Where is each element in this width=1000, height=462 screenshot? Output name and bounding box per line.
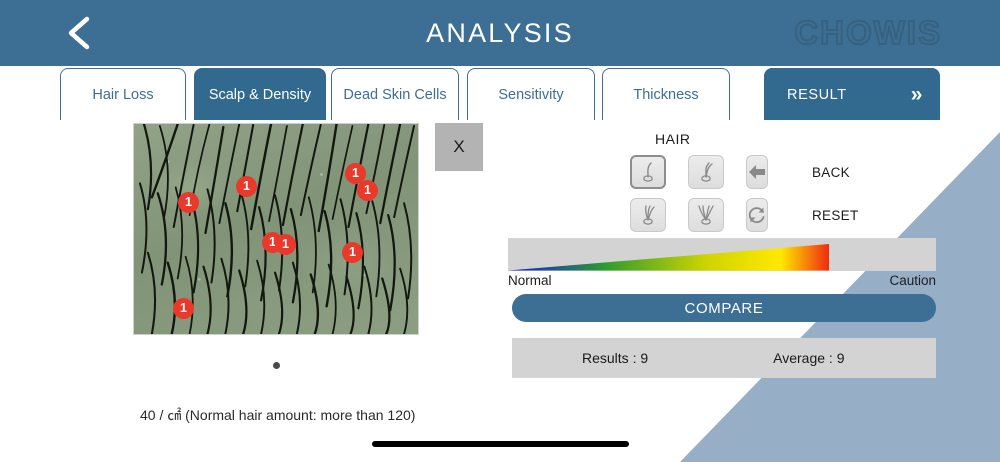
hair-1-button[interactable] xyxy=(630,155,666,189)
hair-2-cell xyxy=(688,155,738,189)
back-label: BACK xyxy=(812,155,850,189)
page-indicator-dot[interactable] xyxy=(273,362,280,369)
tab-thickness[interactable]: Thickness xyxy=(602,68,730,120)
tab-result[interactable]: RESULT » xyxy=(764,68,940,120)
back-cell: BACK xyxy=(746,155,796,189)
hair-4-cell xyxy=(688,198,738,232)
app-header: ANALYSIS CHOWIS xyxy=(0,0,1000,66)
reset-label: RESET xyxy=(812,198,859,232)
severity-gauge xyxy=(508,238,936,271)
brand-logo: CHOWIS xyxy=(794,14,942,52)
hair-marker[interactable]: 1 xyxy=(342,242,363,263)
hair-4-button[interactable] xyxy=(688,198,724,232)
tab-label: Thickness xyxy=(633,87,698,103)
tab-label: Scalp & Density xyxy=(209,87,311,103)
close-image-button[interactable]: X xyxy=(435,123,483,171)
results-bar: Results : 9 Average : 9 xyxy=(512,338,936,378)
hair-marker[interactable]: 1 xyxy=(173,298,194,319)
hair-3-button[interactable] xyxy=(630,198,666,232)
double-chevron-right-icon: » xyxy=(911,84,923,105)
hair-section-label: HAIR xyxy=(655,131,690,147)
hair-marker[interactable]: 1 xyxy=(178,192,199,213)
tab-bar: Hair Loss Scalp & Density Dead Skin Cell… xyxy=(0,66,1000,122)
results-value: Results : 9 xyxy=(582,350,648,366)
home-indicator[interactable] xyxy=(372,441,629,447)
reset-cell: RESET xyxy=(746,198,796,232)
gauge-labels: Normal Caution xyxy=(508,273,936,288)
back-button[interactable] xyxy=(746,155,768,189)
average-value: Average : 9 xyxy=(773,350,844,366)
hair-density-caption: 40 / ㎠ (Normal hair amount: more than 12… xyxy=(140,405,415,425)
hair-3-cell xyxy=(630,198,680,232)
tab-hair-loss[interactable]: Hair Loss xyxy=(60,68,186,120)
tab-dead-skin-cells[interactable]: Dead Skin Cells xyxy=(331,68,459,120)
tab-sensitivity[interactable]: Sensitivity xyxy=(467,68,595,120)
hair-marker[interactable]: 1 xyxy=(275,234,296,255)
tab-label: Hair Loss xyxy=(92,87,153,103)
tab-label: Dead Skin Cells xyxy=(343,87,446,103)
tab-label: RESULT xyxy=(787,87,847,103)
tab-scalp-density[interactable]: Scalp & Density xyxy=(194,68,326,120)
hair-2-button[interactable] xyxy=(688,155,724,189)
hair-marker[interactable]: 1 xyxy=(236,176,257,197)
gauge-right-label: Caution xyxy=(889,273,936,288)
compare-button[interactable]: COMPARE xyxy=(512,294,936,322)
gauge-left-label: Normal xyxy=(508,273,552,288)
hair-button-grid: BACK xyxy=(630,155,796,232)
hair-marker[interactable]: 1 xyxy=(357,180,378,201)
tab-label: Sensitivity xyxy=(498,87,563,103)
analysis-screen: ANALYSIS CHOWIS Hair Loss Scalp & Densit… xyxy=(0,0,1000,462)
hair-1-cell xyxy=(630,155,680,189)
reset-button[interactable] xyxy=(746,198,768,232)
